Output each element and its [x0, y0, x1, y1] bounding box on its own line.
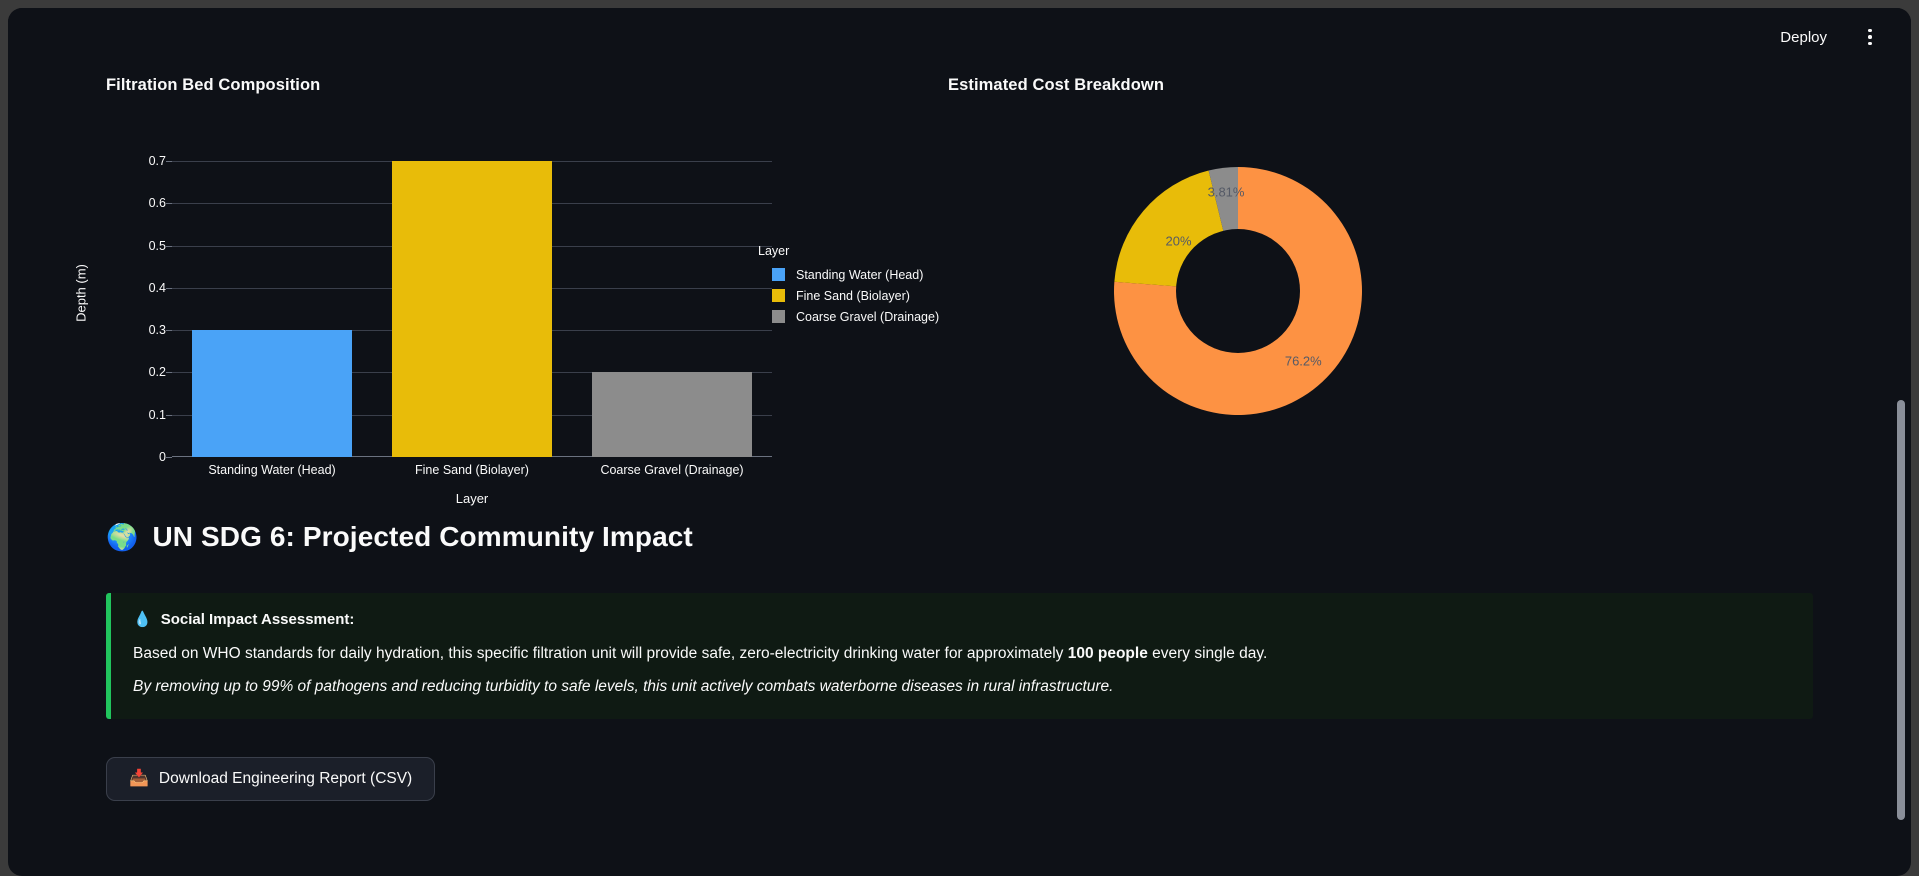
top-toolbar: Deploy	[8, 8, 1911, 66]
x-axis-title: Layer	[456, 491, 489, 506]
y-axis-tick-mark	[166, 288, 172, 289]
x-axis-tick-label: Fine Sand (Biolayer)	[415, 463, 529, 477]
kebab-menu-icon[interactable]	[1855, 22, 1885, 52]
y-axis-tick-label: 0.7	[149, 154, 166, 168]
callout-line-1: Based on WHO standards for daily hydrati…	[133, 642, 1787, 666]
app-window: Deploy Filtration Bed Composition 00.10.…	[8, 8, 1911, 876]
legend-swatch	[772, 268, 785, 281]
callout-line-2: By removing up to 99% of pathogens and r…	[133, 675, 1787, 699]
bar-plot-area: 00.10.20.30.40.50.60.7Standing Water (He…	[172, 161, 772, 457]
donut-chart-panel: Estimated Cost Breakdown 76.2%20%3.81% C…	[878, 76, 1908, 473]
charts-row: Filtration Bed Composition 00.10.20.30.4…	[8, 76, 1911, 473]
y-axis-tick-mark	[166, 372, 172, 373]
y-axis-tick-mark	[166, 161, 172, 162]
globe-icon: 🌍	[106, 524, 138, 550]
callout-line1-bold: 100 people	[1068, 645, 1148, 662]
bar[interactable]	[392, 161, 552, 457]
y-axis-tick-mark	[166, 246, 172, 247]
donut-chart: 76.2%20%3.81%	[948, 113, 1508, 473]
legend-swatch	[772, 289, 785, 302]
kebab-dot	[1868, 29, 1872, 33]
download-report-button[interactable]: 📥 Download Engineering Report (CSV)	[106, 757, 435, 801]
bar-chart: 00.10.20.30.40.50.60.7Standing Water (He…	[106, 113, 866, 473]
callout-line1-suffix: every single day.	[1148, 645, 1267, 662]
legend-swatch	[772, 310, 785, 323]
y-axis-tick-mark	[166, 415, 172, 416]
bar[interactable]	[592, 372, 752, 457]
x-axis-tick-label: Coarse Gravel (Drainage)	[600, 463, 743, 477]
bar-chart-panel: Filtration Bed Composition 00.10.20.30.4…	[8, 76, 878, 473]
y-axis-tick-label: 0.3	[149, 323, 166, 337]
callout-line1-prefix: Based on WHO standards for daily hydrati…	[133, 645, 1068, 662]
callout-title-text: Social Impact Assessment:	[161, 611, 355, 628]
donut-chart-title: Estimated Cost Breakdown	[948, 76, 1908, 95]
y-axis-tick-label: 0	[159, 450, 166, 464]
donut-hole	[1176, 229, 1300, 353]
water-drop-icon: 💧	[133, 612, 152, 627]
kebab-dot	[1868, 35, 1872, 39]
kebab-dot	[1868, 42, 1872, 46]
social-impact-callout: 💧 Social Impact Assessment: Based on WHO…	[106, 593, 1813, 719]
y-axis-tick-mark	[166, 457, 172, 458]
page-title: 🌍 UN SDG 6: Projected Community Impact	[106, 521, 1813, 553]
donut-slice-label: 3.81%	[1208, 184, 1245, 199]
y-axis-tick-label: 0.1	[149, 408, 166, 422]
main-content: Filtration Bed Composition 00.10.20.30.4…	[8, 8, 1911, 876]
bar-chart-title: Filtration Bed Composition	[106, 76, 878, 95]
donut-slice-label: 76.2%	[1285, 354, 1322, 369]
download-button-label: Download Engineering Report (CSV)	[159, 770, 412, 788]
inbox-tray-icon: 📥	[129, 771, 149, 787]
y-axis-tick-label: 0.5	[149, 239, 166, 253]
donut-slice-label: 20%	[1165, 233, 1191, 248]
y-axis-title: Depth (m)	[73, 264, 88, 322]
y-axis-tick-mark	[166, 330, 172, 331]
scrollbar-thumb[interactable]	[1897, 400, 1905, 820]
section-heading-text: UN SDG 6: Projected Community Impact	[152, 521, 692, 553]
y-axis-tick-mark	[166, 203, 172, 204]
impact-section: 🌍 UN SDG 6: Projected Community Impact 💧…	[8, 521, 1911, 801]
y-axis-tick-label: 0.2	[149, 365, 166, 379]
scrollbar-track[interactable]	[1896, 8, 1908, 876]
callout-title: 💧 Social Impact Assessment:	[133, 611, 1787, 628]
deploy-button[interactable]: Deploy	[1770, 24, 1837, 51]
donut-svg	[1078, 131, 1398, 451]
y-axis-tick-label: 0.4	[149, 281, 166, 295]
bar[interactable]	[192, 330, 352, 457]
x-axis-tick-label: Standing Water (Head)	[208, 463, 335, 477]
y-axis-tick-label: 0.6	[149, 196, 166, 210]
